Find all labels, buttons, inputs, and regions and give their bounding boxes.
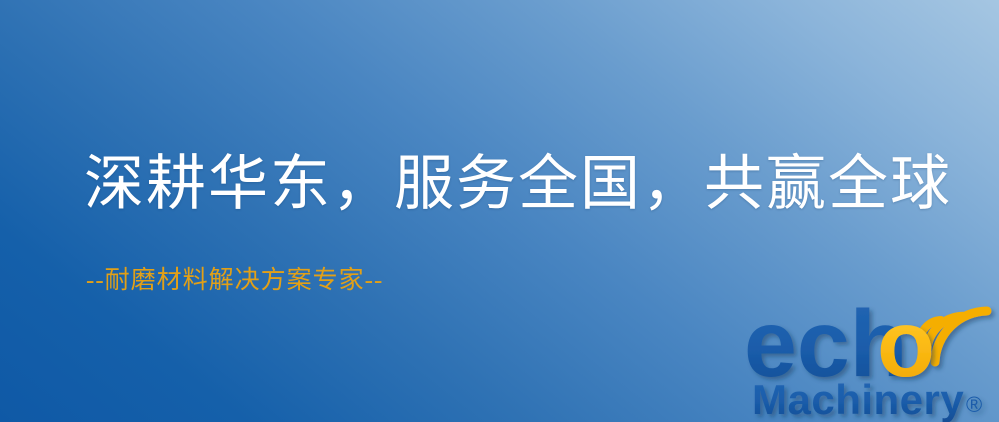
page-subtitle: --耐磨材料解决方案专家-- bbox=[86, 266, 383, 296]
logo-wordmark-machinery: Machinery bbox=[752, 376, 964, 422]
logo-trademark-symbol: ® bbox=[966, 392, 982, 417]
hero-banner: 深耕华东，服务全国，共赢全球 --耐磨材料解决方案专家-- bbox=[0, 0, 999, 422]
echo-machinery-logo-graphic: ech o Machinery ® bbox=[744, 288, 999, 422]
company-logo[interactable]: ech o Machinery ® bbox=[744, 288, 999, 422]
page-title: 深耕华东，服务全国，共赢全球 bbox=[84, 152, 952, 216]
